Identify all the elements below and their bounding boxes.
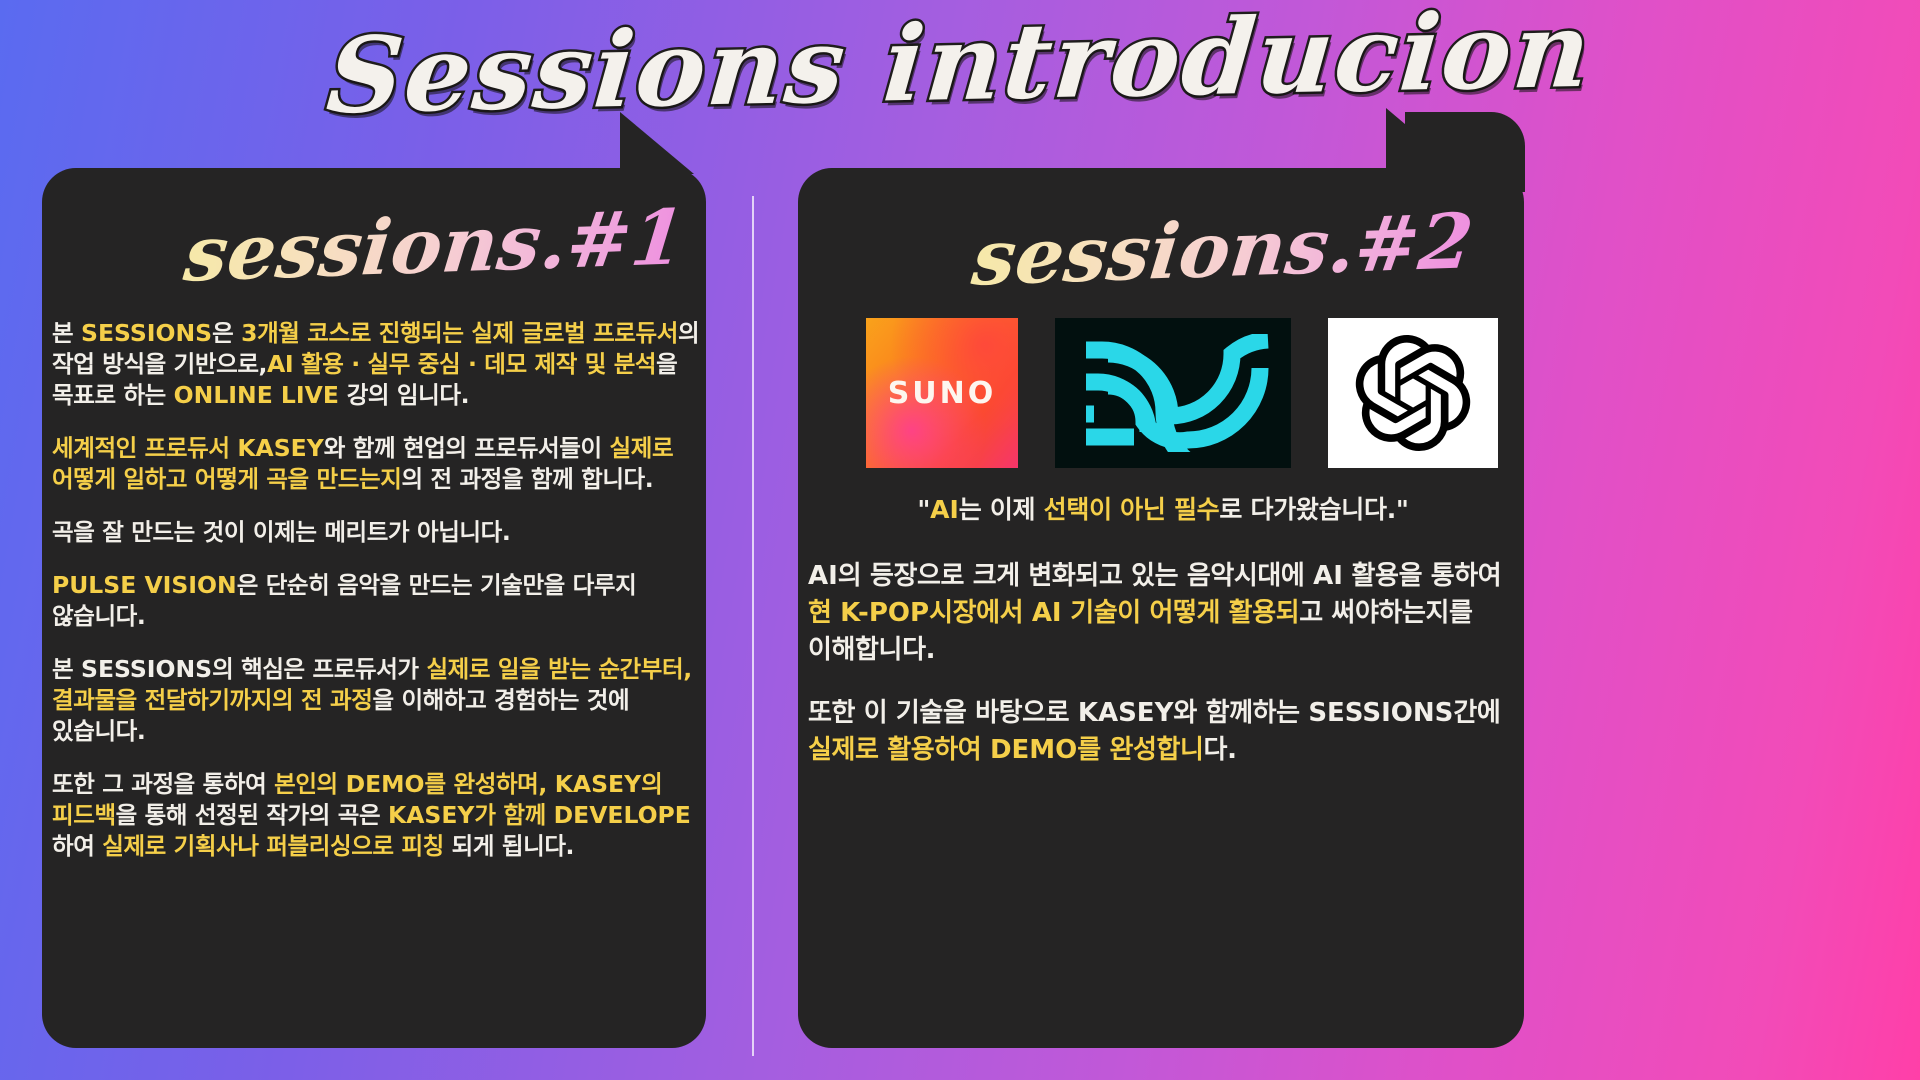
paragraph: AI의 등장으로 크게 변화되고 있는 음악시대에 AI 활용을 통하여 현 K… <box>808 558 1518 669</box>
text-run: KASEY <box>388 801 474 829</box>
text-run: K-POP <box>840 598 929 628</box>
paragraph: 또한 그 과정을 통하여 본인의 DEMO를 완성하며, KASEY의 피드백을… <box>52 769 704 862</box>
text-run: 현 <box>808 598 840 628</box>
text-run: 실제로 기획사나 퍼블리싱으로 피칭 <box>102 832 444 860</box>
text-run: 본인의 <box>274 770 345 798</box>
text-run: AI <box>1313 561 1343 591</box>
suno-wordmark: SUNO <box>888 376 997 411</box>
text-run: DEVELOPE <box>554 801 691 829</box>
text-run: 기술이 어떻게 활용되 <box>1062 598 1300 628</box>
session-2-body: AI의 등장으로 크게 변화되고 있는 음악시대에 AI 활용을 통하여 현 K… <box>808 558 1518 769</box>
text-run: 를 완성하며, <box>425 770 555 798</box>
session-1-body: 본 SESSIONS은 3개월 코스로 진행되는 실제 글로벌 프로듀서의 작업… <box>52 318 704 862</box>
text-run: 세계적인 프로듀서 <box>52 434 237 462</box>
paragraph: 또한 이 기술을 바탕으로 KASEY와 함께하는 SESSIONS간에 실제로… <box>808 695 1518 769</box>
text-run: DEMO <box>990 735 1077 765</box>
text-run: AI <box>1032 598 1062 628</box>
text-run: 3개월 코스로 진행되는 실제 글로벌 프로듀서 <box>241 319 678 347</box>
udio-wave-icon <box>1068 334 1278 452</box>
text-run: SESSIONS <box>81 319 212 347</box>
paragraph: 세계적인 프로듀서 KASEY와 함께 현업의 프로듀서들이 실제로 어떻게 일… <box>52 433 704 495</box>
ai-tool-logos: SUNO <box>866 318 1498 468</box>
paragraph: 본 SESSIONS은 3개월 코스로 진행되는 실제 글로벌 프로듀서의 작업… <box>52 318 704 411</box>
text-run: 를 완성합니 <box>1077 735 1203 765</box>
text-run: 시장에서 <box>929 598 1032 628</box>
paragraph: 곡을 잘 만드는 것이 이제는 메리트가 아닙니다. <box>52 517 704 548</box>
text-run: DEMO <box>346 770 425 798</box>
session-1-heading: sessions.#1 <box>181 199 689 292</box>
udio-logo <box>1055 318 1291 468</box>
suno-logo: SUNO <box>866 318 1018 468</box>
text-run: AI 활용 · 실무 중심 · 데모 제작 및 분석 <box>267 350 656 378</box>
title-banner: Sessions introducion <box>0 2 1920 142</box>
session-2-heading: sessions.#2 <box>969 203 1477 296</box>
text-run: 실제로 활용하여 <box>808 735 990 765</box>
card-divider <box>752 196 754 1056</box>
text-run: AI <box>930 495 959 524</box>
openai-knot-icon <box>1355 335 1471 451</box>
openai-logo <box>1328 318 1498 468</box>
text-run: AI <box>808 561 838 591</box>
text-run: KASEY <box>1078 698 1174 728</box>
paragraph: 본 SESSIONS의 핵심은 프로듀서가 실제로 일을 받는 순간부터, 결과… <box>52 654 704 747</box>
text-run: KASEY <box>237 434 323 462</box>
text-run: PULSE VISION <box>52 571 237 599</box>
text-run: 선택이 아닌 필수 <box>1044 495 1220 524</box>
text-run: KASEY <box>555 770 641 798</box>
paragraph: PULSE VISION은 단순히 음악을 만드는 기술만을 다루지 않습니다. <box>52 570 704 632</box>
text-run: SESSIONS <box>81 655 212 683</box>
text-run: ONLINE LIVE <box>174 381 339 409</box>
text-run: 가 함께 <box>474 801 553 829</box>
session-2-quote: "AI는 이제 선택이 아닌 필수로 다가왔습니다." <box>808 490 1518 526</box>
text-run: SESSIONS <box>1308 698 1453 728</box>
